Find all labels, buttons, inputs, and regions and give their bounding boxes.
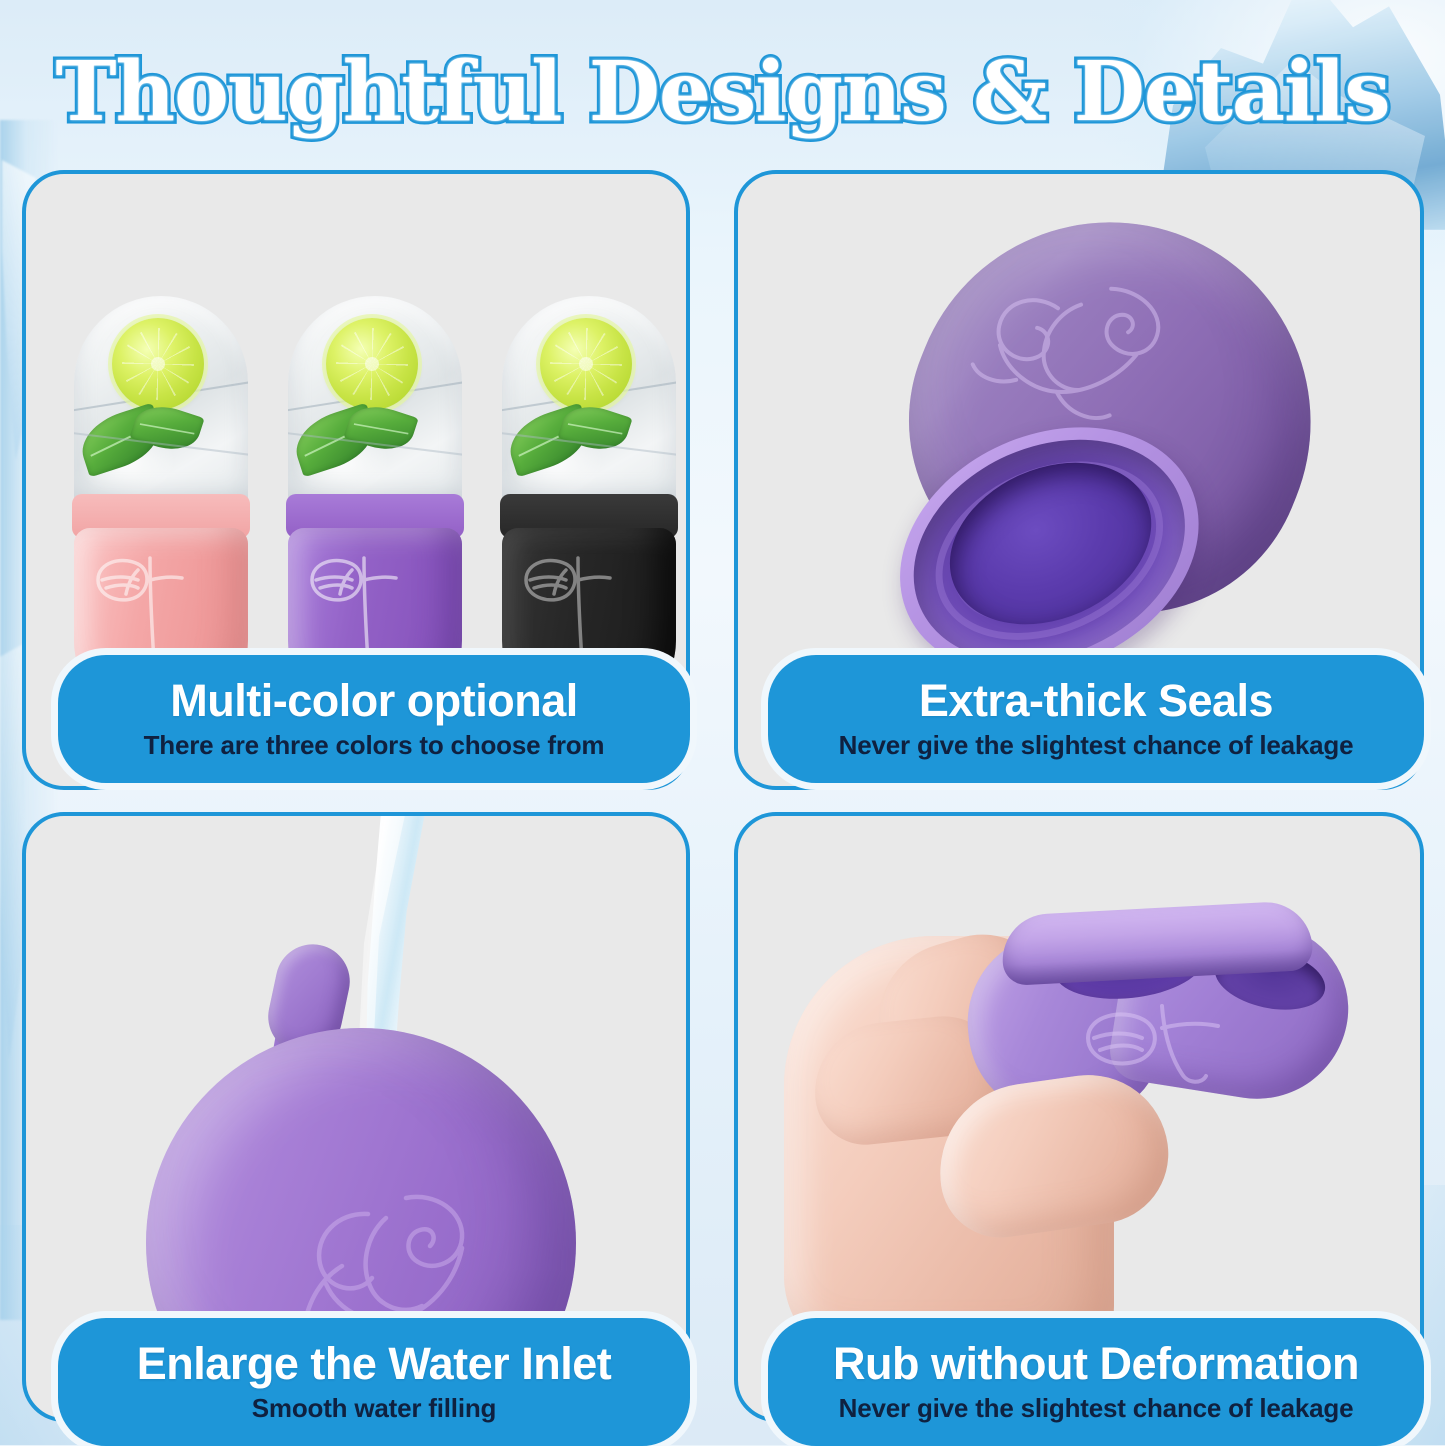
caption-title: Rub without Deformation	[833, 1339, 1359, 1389]
tilted-silicone-cup	[835, 189, 1381, 709]
caption-subtitle: Smooth water filling	[252, 1391, 496, 1425]
hand-holding-product	[758, 844, 1318, 1384]
caption-water-inlet: Enlarge the Water Inlet Smooth water fil…	[58, 1318, 690, 1446]
caption-extra-thick-seals: Extra-thick Seals Never give the slighte…	[768, 655, 1424, 783]
lime-slice-icon	[540, 318, 632, 410]
caption-rub-without-deformation: Rub without Deformation Never give the s…	[768, 1318, 1424, 1446]
caption-subtitle: Never give the slightest chance of leaka…	[839, 1391, 1354, 1425]
page-title: Thoughtful Designs & Details	[56, 44, 1390, 140]
ice-block	[288, 296, 462, 508]
ice-block	[502, 296, 676, 508]
caption-title: Multi-color optional	[170, 676, 577, 726]
lime-slice-icon	[112, 318, 204, 410]
caption-multi-color: Multi-color optional There are three col…	[58, 655, 690, 783]
ice-block	[74, 296, 248, 508]
page-title-container: Thoughtful Designs & Details	[0, 36, 1445, 148]
lime-slice-icon	[326, 318, 418, 410]
caption-title: Extra-thick Seals	[919, 676, 1273, 726]
caption-subtitle: Never give the slightest chance of leaka…	[839, 728, 1354, 762]
caption-title: Enlarge the Water Inlet	[137, 1339, 611, 1389]
caption-subtitle: There are three colors to choose from	[144, 728, 605, 762]
